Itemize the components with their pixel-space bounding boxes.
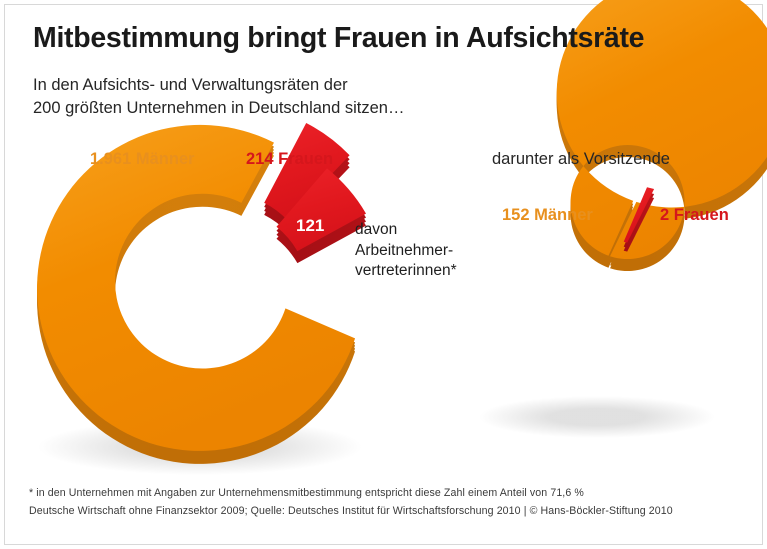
right-chart-heading: darunter als Vorsitzende — [492, 150, 670, 169]
page-title: Mitbestimmung bringt Frauen in Aufsichts… — [33, 22, 644, 55]
right-chart-men-label: 152 Männer — [502, 206, 593, 225]
footnote-source: Deutsche Wirtschaft ohne Finanzsektor 20… — [29, 505, 673, 517]
page-subtitle: In den Aufsichts- und Verwaltungsräten d… — [33, 74, 404, 120]
left-donut-chart — [37, 123, 366, 475]
left-chart-callout: davon Arbeitnehmer- vertreterinnen* — [355, 220, 457, 282]
left-chart-anv-value: 121 — [296, 216, 324, 236]
infographic-page: Mitbestimmung bringt Frauen in Aufsichts… — [0, 0, 767, 549]
left-chart-women-label: 214 Frauen — [246, 150, 333, 169]
left-chart-men-label: 1.961 Männer — [90, 150, 195, 169]
footnote-asterisk: * in den Unternehmen mit Angaben zur Unt… — [29, 487, 584, 499]
right-chart-women-label: 2 Frauen — [660, 206, 729, 225]
